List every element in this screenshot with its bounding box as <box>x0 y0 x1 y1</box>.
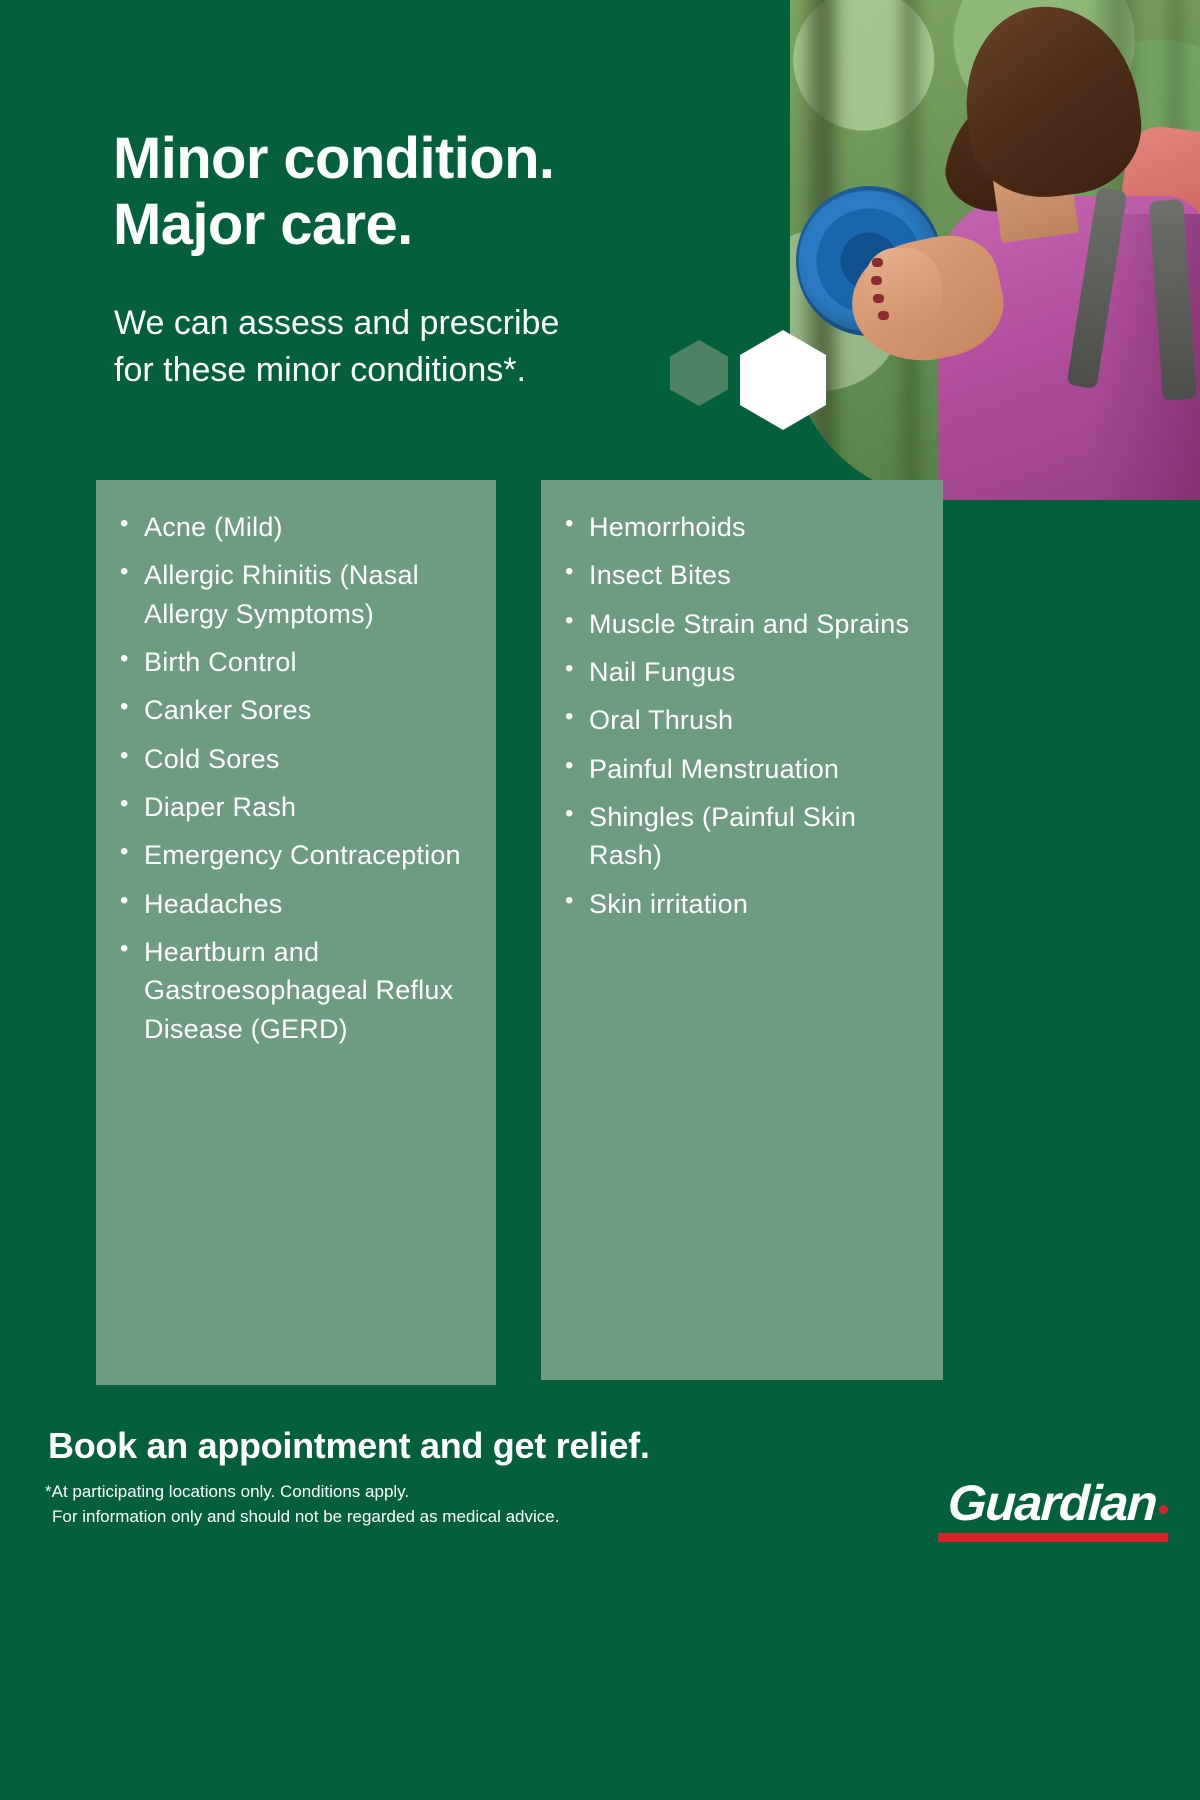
fingernail <box>872 258 883 267</box>
subheading: We can assess and prescribe for these mi… <box>114 300 674 394</box>
conditions-list-right: HemorrhoidsInsect BitesMuscle Strain and… <box>541 480 943 923</box>
disclaimer-line-2: For information only and should not be r… <box>45 1505 559 1530</box>
poster-root: { "brand": { "name": "Guardian", "accent… <box>0 0 1200 1800</box>
cta-text: Book an appointment and get relief. <box>48 1425 650 1467</box>
condition-list-item: Shingles (Painful Skin Rash) <box>563 798 925 875</box>
condition-list-item: Painful Menstruation <box>563 750 925 788</box>
headline-line-1: Minor condition. <box>113 126 713 192</box>
hexagon-sage-icon <box>670 340 728 406</box>
condition-list-item: Headaches <box>118 885 478 923</box>
condition-list-item: Heartburn and Gastroesophageal Reflux Di… <box>118 933 478 1048</box>
condition-list-item: Oral Thrush <box>563 701 925 739</box>
brand-dot-icon <box>1159 1505 1168 1514</box>
condition-list-item: Skin irritation <box>563 885 925 923</box>
condition-list-item: Hemorrhoids <box>563 508 925 546</box>
headline-line-2: Major care. <box>113 192 713 258</box>
disclaimer: *At participating locations only. Condit… <box>45 1480 559 1529</box>
brand-underline <box>938 1533 1168 1542</box>
subheading-line-2: for these minor conditions*. <box>114 347 674 394</box>
condition-list-item: Allergic Rhinitis (Nasal Allergy Symptom… <box>118 556 478 633</box>
fingernail <box>873 294 884 303</box>
subheading-line-1: We can assess and prescribe <box>114 300 674 347</box>
fingernail <box>871 276 882 285</box>
condition-list-item: Emergency Contraception <box>118 836 478 874</box>
conditions-panel-right: HemorrhoidsInsect BitesMuscle Strain and… <box>541 480 943 1380</box>
condition-list-item: Cold Sores <box>118 740 478 778</box>
conditions-panel-left: Acne (Mild)Allergic Rhinitis (Nasal Alle… <box>96 480 496 1385</box>
page-title: Minor condition. Major care. <box>113 126 713 257</box>
condition-list-item: Muscle Strain and Sprains <box>563 605 925 643</box>
condition-list-item: Nail Fungus <box>563 653 925 691</box>
hand <box>864 248 942 336</box>
condition-list-item: Birth Control <box>118 643 478 681</box>
brand-logo: Guardian <box>938 1478 1168 1542</box>
fingernail <box>878 311 889 320</box>
condition-list-item: Acne (Mild) <box>118 508 478 546</box>
photo-background <box>790 0 1200 500</box>
brand-name: Guardian <box>946 1478 1157 1528</box>
disclaimer-line-1: *At participating locations only. Condit… <box>45 1482 409 1501</box>
hero-photo <box>790 0 1200 500</box>
condition-list-item: Diaper Rash <box>118 788 478 826</box>
conditions-list-left: Acne (Mild)Allergic Rhinitis (Nasal Alle… <box>96 480 496 1048</box>
condition-list-item: Insect Bites <box>563 556 925 594</box>
condition-list-item: Canker Sores <box>118 691 478 729</box>
